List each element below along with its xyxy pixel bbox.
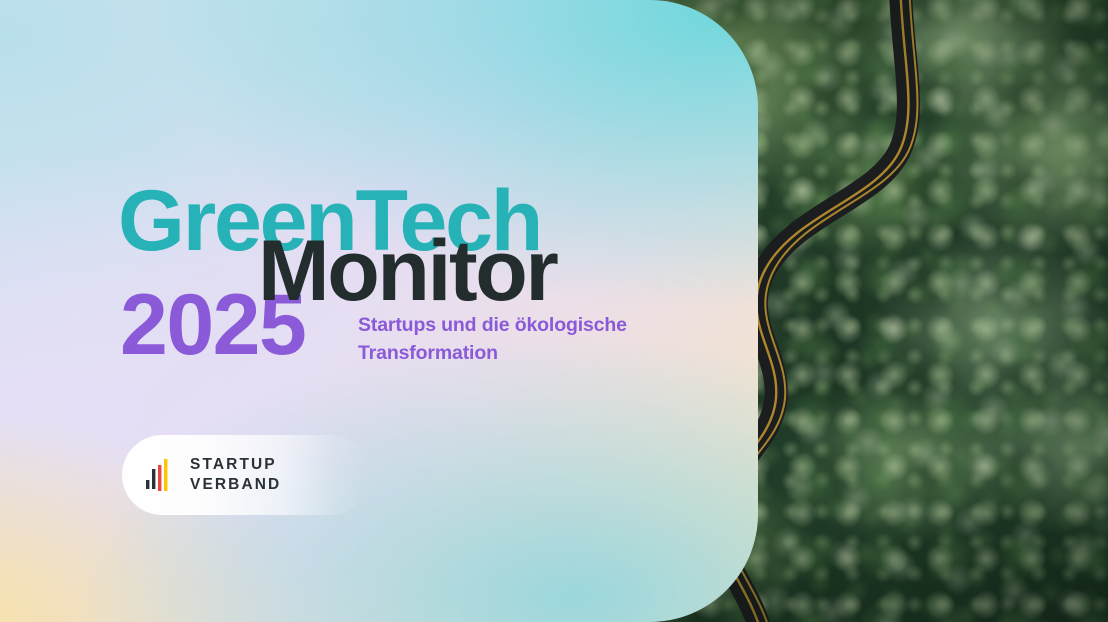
- logo-wordmark: STARTUP VERBAND: [190, 455, 281, 496]
- logo-word-verband: VERBAND: [190, 476, 281, 493]
- title-monitor: Monitor: [258, 228, 556, 314]
- bars-icon: [146, 458, 176, 492]
- title-block: GreenTech 2025 Monitor Startups und die …: [0, 0, 758, 622]
- cover-page: GreenTech 2025 Monitor Startups und die …: [0, 0, 1108, 622]
- startup-verband-logo-badge: STARTUP VERBAND: [122, 435, 370, 515]
- subtitle: Startups und die ökologische Transformat…: [358, 312, 658, 367]
- logo-word-startup: STARTUP: [190, 456, 277, 473]
